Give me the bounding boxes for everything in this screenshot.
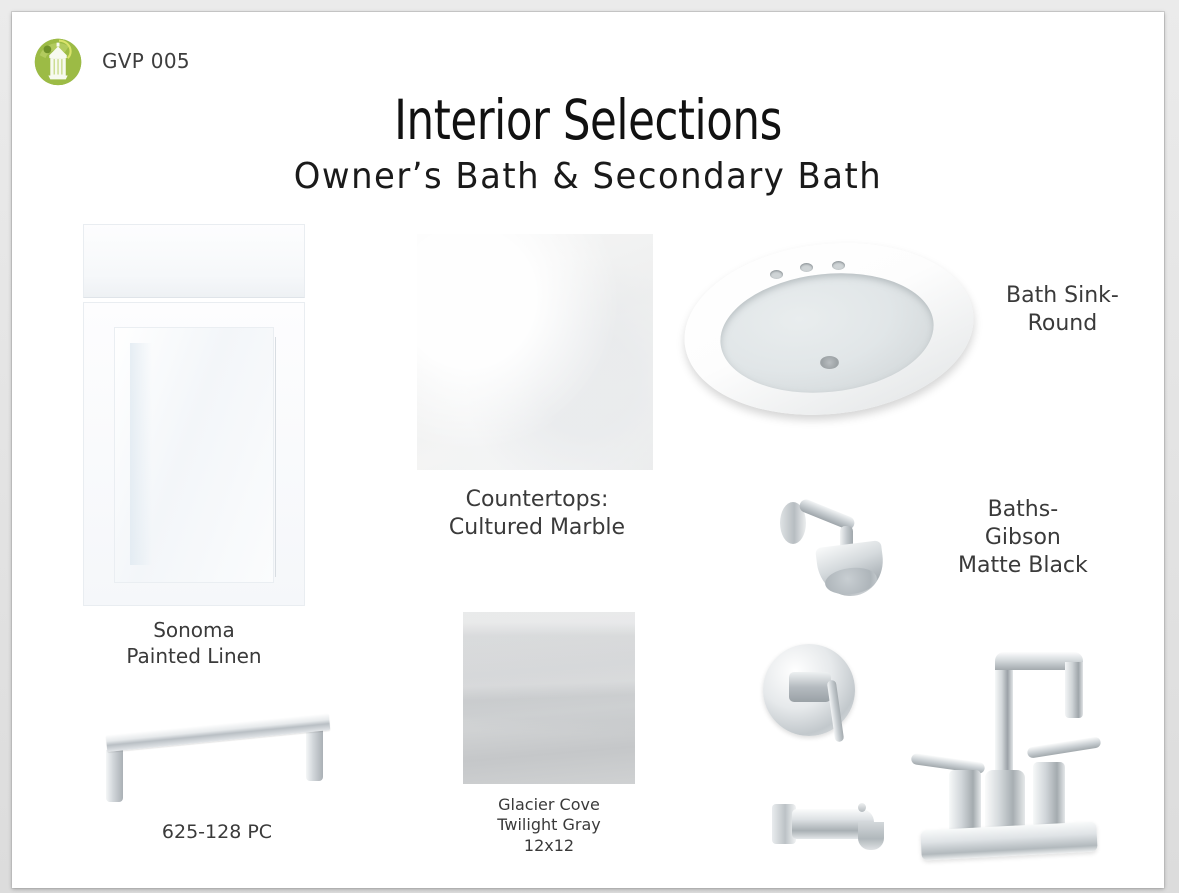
selection-item-spout [772,800,922,862]
slide-page: GVP 005 Interior Selections Owner’s Bath… [12,12,1164,888]
caption-line: 625-128 PC [72,820,362,844]
faucet-stem-right [1033,762,1065,828]
shower-valve-trim-image [757,640,887,750]
cabinet-edge-line [275,337,276,577]
sink-faucet-hole [770,270,783,279]
selection-item-tile: Glacier Cove Twilight Gray 12x12 [463,612,635,856]
caption-line: 12x12 [463,836,635,856]
caption-line: Countertops: [417,486,657,514]
floor-tile-swatch [463,612,635,784]
cultured-marble-swatch [417,234,653,470]
pull-leg-left [106,750,123,802]
selection-item-faucet [907,630,1127,860]
page-title: Interior Selections [81,92,1095,150]
tub-spout-image [772,800,902,862]
cabinet-drawer-front [83,224,305,298]
faucet-handle-right [1027,736,1102,758]
selection-item-countertop: Countertops: Cultured Marble [417,234,657,542]
faucet-spout-outlet [1065,662,1083,718]
lavatory-faucet-image [907,630,1112,860]
sink-faucet-hole [832,261,845,270]
lantern-logo-icon [30,32,88,90]
selection-item-cabinet: Sonoma Painted Linen [71,224,317,669]
brand-header: GVP 005 [30,32,190,90]
caption-line: Matte Black [958,552,1088,580]
selection-item-shower: Baths- Gibson Matte Black [772,492,1162,607]
caption-line: Cultured Marble [417,514,657,542]
caption-line: Gibson [958,524,1088,552]
page-subtitle: Owner’s Bath & Secondary Bath [47,156,1130,197]
spout-diverter-knob [858,803,866,812]
pull-leg-right [306,729,323,781]
selection-item-valve [757,640,907,750]
caption-line: Twilight Gray [463,815,635,835]
countertop-caption: Countertops: Cultured Marble [417,486,657,542]
caption-line: Glacier Cove [463,795,635,815]
sink-faucet-hole [800,263,813,272]
caption-line: Round [1006,310,1119,338]
pull-caption: 625-128 PC [72,820,362,844]
cabinet-caption: Sonoma Painted Linen [71,618,317,669]
faucet-deck-plate [920,821,1097,860]
sink-caption: Bath Sink- Round [1006,282,1119,338]
selection-item-sink: Bath Sink- Round [684,244,1154,424]
pull-bar [106,713,331,752]
document-viewer: GVP 005 Interior Selections Owner’s Bath… [0,0,1179,893]
caption-line: Painted Linen [71,644,317,670]
cabinet-door-frame [83,302,305,606]
cabinet-highlight [130,343,152,565]
cabinet-pull-image [92,684,342,804]
faucet-stem-left [949,770,981,836]
project-code: GVP 005 [102,49,190,73]
bath-sink-image [684,244,984,424]
caption-line: Baths- [958,496,1088,524]
title-block: Interior Selections Owner’s Bath & Secon… [12,92,1164,197]
spout-outlet [858,822,884,850]
caption-line: Sonoma [71,618,317,644]
tile-caption: Glacier Cove Twilight Gray 12x12 [463,795,635,856]
shower-caption: Baths- Gibson Matte Black [958,496,1088,580]
valve-cartridge-boss [789,672,831,702]
cabinet-door-image [83,224,305,606]
shower-head-image [772,492,932,607]
caption-line: Bath Sink- [1006,282,1119,310]
sink-drain [820,356,839,369]
selection-item-pull: 625-128 PC [72,684,362,844]
